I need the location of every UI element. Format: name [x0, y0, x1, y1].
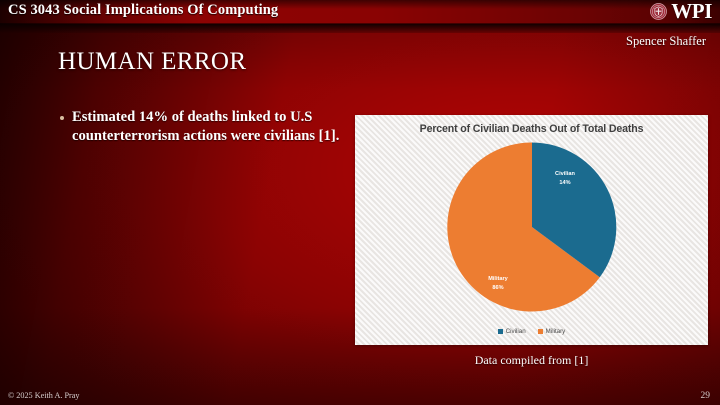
chart-legend: Civilian Military — [355, 328, 708, 335]
legend-label-civilian: Civilian — [506, 328, 526, 335]
chart-title: Percent of Civilian Deaths Out of Total … — [355, 123, 708, 135]
footer-page-number: 29 — [701, 391, 711, 401]
pie-chart-panel: Percent of Civilian Deaths Out of Total … — [355, 115, 708, 345]
bullet-dot-icon — [60, 116, 64, 120]
header-underline — [0, 24, 720, 33]
pie-label-military-name: Military — [488, 276, 508, 282]
bullet-list-item: Estimated 14% of deaths linked to U.S co… — [60, 108, 350, 147]
legend-item-civilian: Civilian — [498, 328, 526, 335]
presenter-name: Spencer Shaffer — [626, 34, 706, 49]
slide-title: HUMAN ERROR — [58, 48, 246, 76]
chart-caption: Data compiled from [1] — [355, 353, 708, 368]
footer-copyright: © 2025 Keith A. Pray — [8, 391, 80, 400]
pie-label-civilian-percent: 14% — [559, 180, 570, 186]
legend-item-military: Military — [538, 328, 566, 335]
pie-plot-area: Civilian 14% Military 86% — [355, 137, 708, 317]
pie-label-civilian-name: Civilian — [555, 171, 575, 177]
wpi-logo: WPI — [650, 1, 712, 22]
course-title: CS 3043 Social Implications Of Computing — [8, 2, 278, 19]
wpi-logo-text: WPI — [671, 1, 712, 22]
pie-label-military-percent: 86% — [492, 285, 503, 291]
legend-swatch-military — [538, 329, 543, 334]
slide-canvas: CS 3043 Social Implications Of Computing… — [0, 0, 720, 405]
bullet-text: Estimated 14% of deaths linked to U.S co… — [72, 108, 350, 147]
legend-swatch-civilian — [498, 329, 503, 334]
wpi-seal-icon — [650, 3, 667, 20]
legend-label-military: Military — [546, 328, 566, 335]
